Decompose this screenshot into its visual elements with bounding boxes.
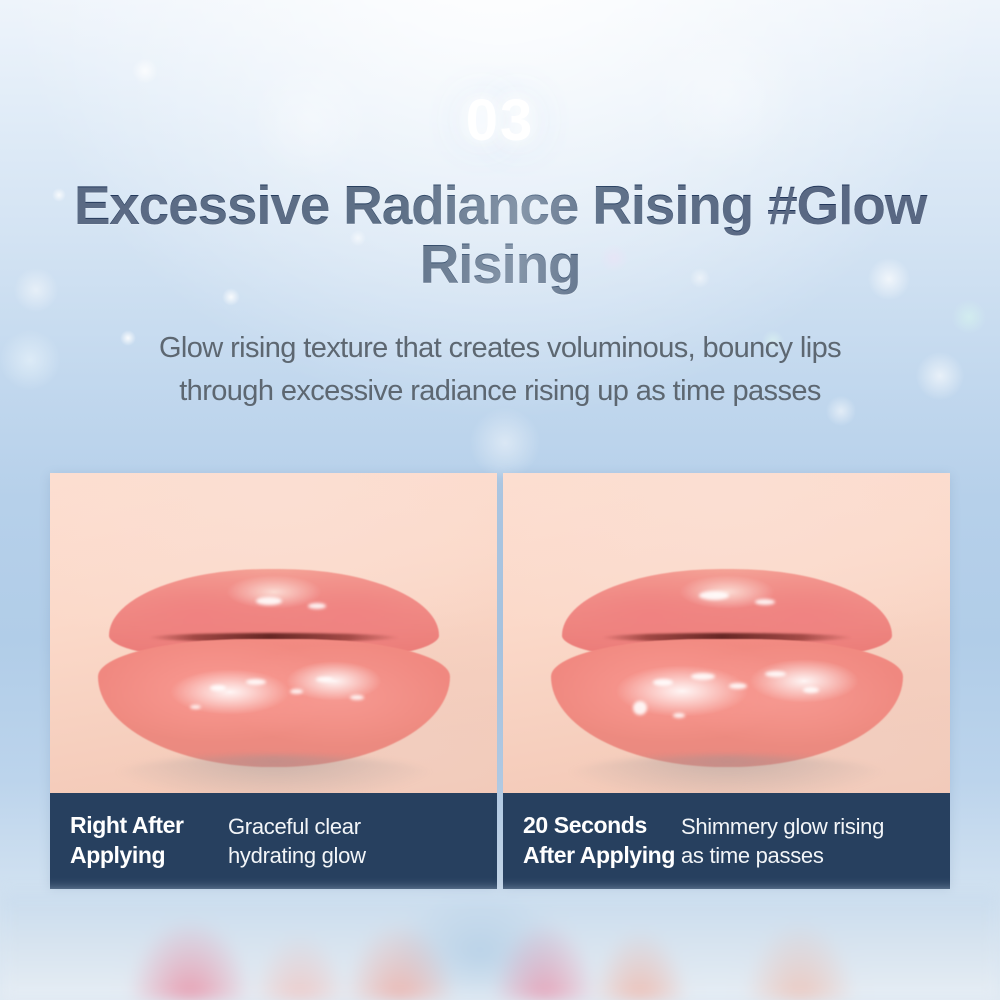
gloss-speck bbox=[803, 687, 819, 693]
subtitle-line-1: Glow rising texture that creates volumin… bbox=[0, 327, 1000, 370]
caption-description: Shimmery glow rising as time passes bbox=[681, 812, 884, 870]
gloss-speck bbox=[350, 695, 364, 700]
caption-label: 20 Seconds After Applying bbox=[523, 811, 675, 871]
comparison-panels: Right After Applying Graceful clear hydr… bbox=[50, 473, 950, 889]
lips-photo-right-after-applying bbox=[50, 473, 497, 793]
gloss-speck bbox=[765, 671, 786, 677]
subtitle-line-2: through excessive radiance rising up as … bbox=[0, 370, 1000, 413]
gloss-speck bbox=[316, 677, 333, 682]
subtitle: Glow rising texture that creates volumin… bbox=[0, 327, 1000, 413]
caption-description: Graceful clear hydrating glow bbox=[228, 812, 366, 870]
chin-shadow bbox=[562, 755, 892, 793]
bottom-blurred-product-strip bbox=[0, 893, 1000, 1000]
gloss-highlight bbox=[286, 661, 382, 701]
gloss-speck bbox=[246, 679, 266, 685]
comparison-panel-before: Right After Applying Graceful clear hydr… bbox=[50, 473, 497, 889]
comparison-panel-after: 20 Seconds After Applying Shimmery glow … bbox=[503, 473, 950, 889]
gloss-highlight bbox=[749, 659, 859, 703]
gloss-speck bbox=[633, 701, 647, 715]
chin-shadow bbox=[109, 755, 439, 793]
gloss-speck bbox=[210, 685, 226, 691]
gloss-speck bbox=[190, 705, 201, 709]
gloss-speck bbox=[308, 603, 326, 609]
caption-label: Right After Applying bbox=[70, 811, 222, 871]
gloss-speck bbox=[691, 673, 715, 680]
header-block: 03 Excessive Radiance Rising #Glow Risin… bbox=[0, 0, 1000, 413]
gloss-speck bbox=[653, 679, 673, 686]
caption-bar-before: Right After Applying Graceful clear hydr… bbox=[50, 793, 497, 889]
gloss-speck bbox=[699, 591, 729, 600]
lips-photo-20-seconds-after-applying bbox=[503, 473, 950, 793]
gloss-speck bbox=[729, 683, 747, 689]
gloss-speck bbox=[673, 713, 685, 718]
step-number: 03 bbox=[0, 92, 1000, 150]
gloss-speck bbox=[755, 599, 775, 605]
promo-page: 03 Excessive Radiance Rising #Glow Risin… bbox=[0, 0, 1000, 1000]
page-title: Excessive Radiance Rising #Glow Rising bbox=[0, 176, 1000, 295]
gloss-speck bbox=[290, 689, 303, 694]
caption-bar-after: 20 Seconds After Applying Shimmery glow … bbox=[503, 793, 950, 889]
gloss-speck bbox=[256, 597, 282, 605]
gloss-highlight bbox=[170, 669, 290, 715]
bokeh-dot bbox=[470, 408, 540, 478]
